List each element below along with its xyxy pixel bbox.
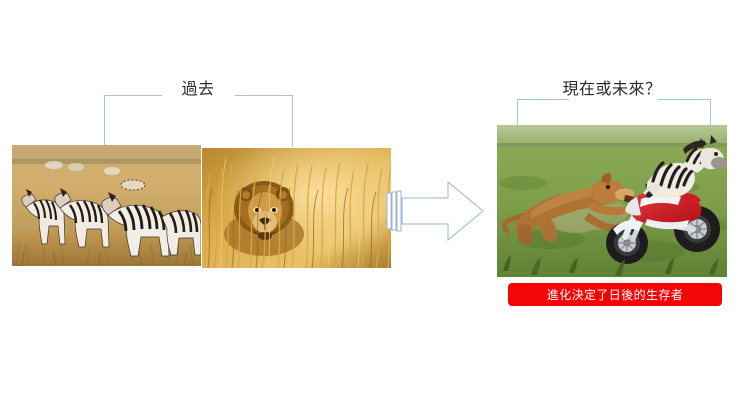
- caption-banner-text: 進化決定了日後的生存者: [547, 288, 683, 302]
- bracket-future-drop-right: [710, 99, 711, 127]
- bracket-past: [104, 95, 293, 147]
- zebra-herd-illustration: [12, 145, 201, 266]
- photo-lion-in-grass: [202, 148, 391, 268]
- group-label-future: 現在或未來？: [497, 79, 727, 99]
- caption-banner: 進化決定了日後的生存者: [508, 283, 722, 306]
- lion-illustration: [202, 148, 391, 268]
- future-scene-illustration: [497, 125, 727, 277]
- bracket-past-line-right: [235, 95, 293, 96]
- photo-zebra-herd: [12, 145, 201, 266]
- pleated-right-arrow-icon: [386, 176, 486, 246]
- transition-arrow: [386, 176, 486, 246]
- bracket-future-line-right: [658, 99, 711, 100]
- bracket-past-line-left: [104, 95, 162, 96]
- bracket-future-drop-left: [517, 99, 518, 127]
- slide-canvas: 過去 現在或未來？: [0, 0, 740, 416]
- bracket-future: [517, 99, 711, 127]
- bracket-past-drop-left: [104, 95, 105, 147]
- bracket-past-drop-right: [292, 95, 293, 147]
- photo-zebra-on-motorcycle: [497, 125, 727, 277]
- bracket-future-line-left: [517, 99, 569, 100]
